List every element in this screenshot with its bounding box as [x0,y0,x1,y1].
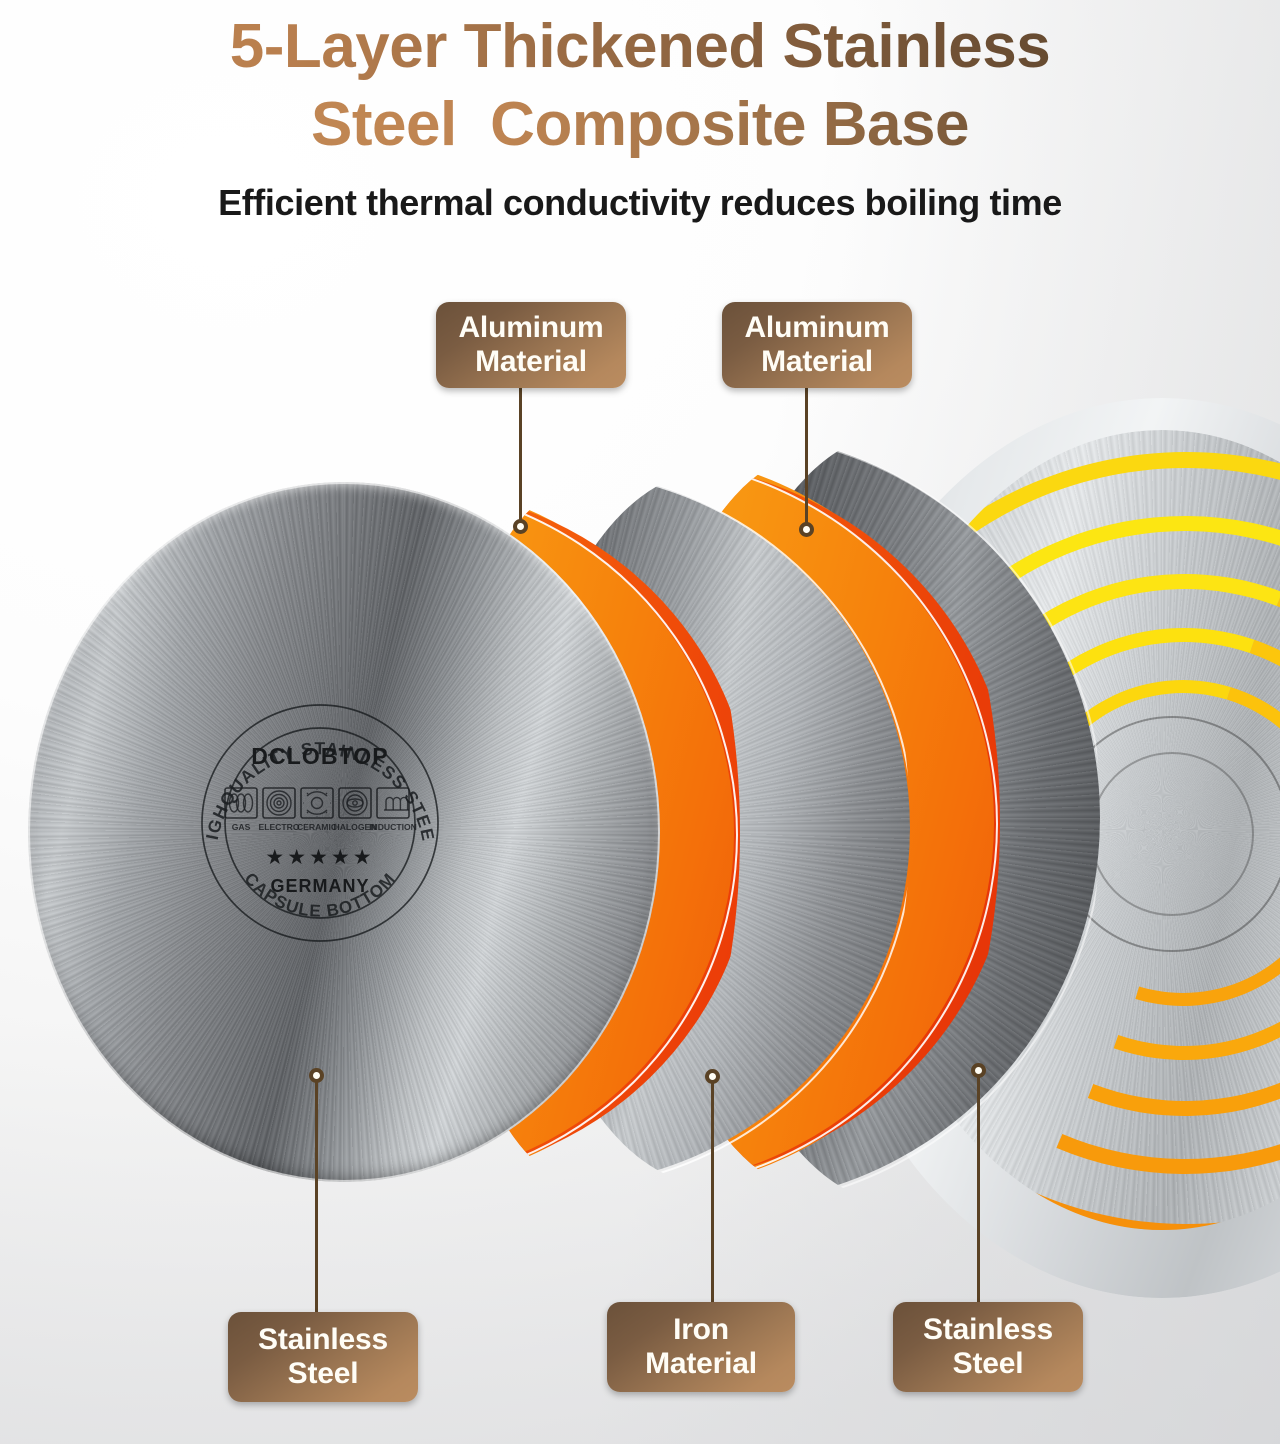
hob-label-induction: INDUCTION [369,822,417,832]
callout-label-line2: Material [761,345,873,379]
callout-stainless-bottom-left[interactable]: Stainless Steel [228,1312,418,1402]
callout-label-line1: Stainless [923,1313,1053,1347]
callout-label-line2: Steel [288,1357,359,1391]
ceramic-icon [304,790,331,817]
callout-dot-aluminum-top-left [513,519,528,534]
callout-dot-aluminum-top-right [799,522,814,537]
callout-label-line1: Aluminum [458,311,603,345]
callout-dot-stainless-bottom-left [309,1068,324,1083]
callout-aluminum-top-left[interactable]: Aluminum Material [436,302,626,388]
callout-leader-stainless-bottom-left [315,1076,318,1314]
callout-label-line1: Iron [673,1313,729,1347]
infographic-canvas: HIGHQUALITY STAINLESS STEEL CAPSULE BOTT… [0,0,1280,1444]
page-subtitle: Efficient thermal conductivity reduces b… [0,182,1280,224]
callout-aluminum-top-right[interactable]: Aluminum Material [722,302,912,388]
callout-leader-aluminum-top-left [519,388,522,526]
callout-dot-iron-bottom-center [705,1069,720,1084]
callout-leader-aluminum-top-right [805,388,808,529]
callout-label-line1: Stainless [258,1323,388,1357]
engraving-country: GERMANY [270,876,369,896]
electro-icon [267,791,291,815]
callout-label-line2: Steel [953,1347,1024,1381]
engraving-stars: ★★★★★ [265,845,374,869]
hob-label-electro: ELECTRO [258,822,299,832]
callout-label-line2: Material [645,1347,757,1381]
engraving-brand: DCLOBTOP [251,743,388,769]
engraved-brand-logo: HIGHQUALITY STAINLESS STEEL CAPSULE BOTT… [200,692,440,954]
pot-bottom-engrave-ring-inner [1090,752,1254,916]
page-title-line-1: 5-Layer Thickened Stainless [0,0,1280,86]
callout-leader-iron-bottom-center [711,1078,714,1304]
hob-label-ceramic: CERAMIC [297,822,337,832]
callout-label-line2: Material [475,345,587,379]
callout-iron-bottom-center[interactable]: Iron Material [607,1302,795,1392]
hob-label-gas: GAS [232,822,251,832]
callout-dot-stainless-bottom-right [971,1063,986,1078]
halogen-icon [343,791,367,815]
callout-label-line1: Aluminum [744,311,889,345]
page-title-line-2: Steel Composite Base [0,86,1280,164]
callout-stainless-bottom-right[interactable]: Stainless Steel [893,1302,1083,1392]
header-block: 5-Layer Thickened Stainless Steel Compos… [0,0,1280,224]
callout-leader-stainless-bottom-right [977,1072,980,1304]
